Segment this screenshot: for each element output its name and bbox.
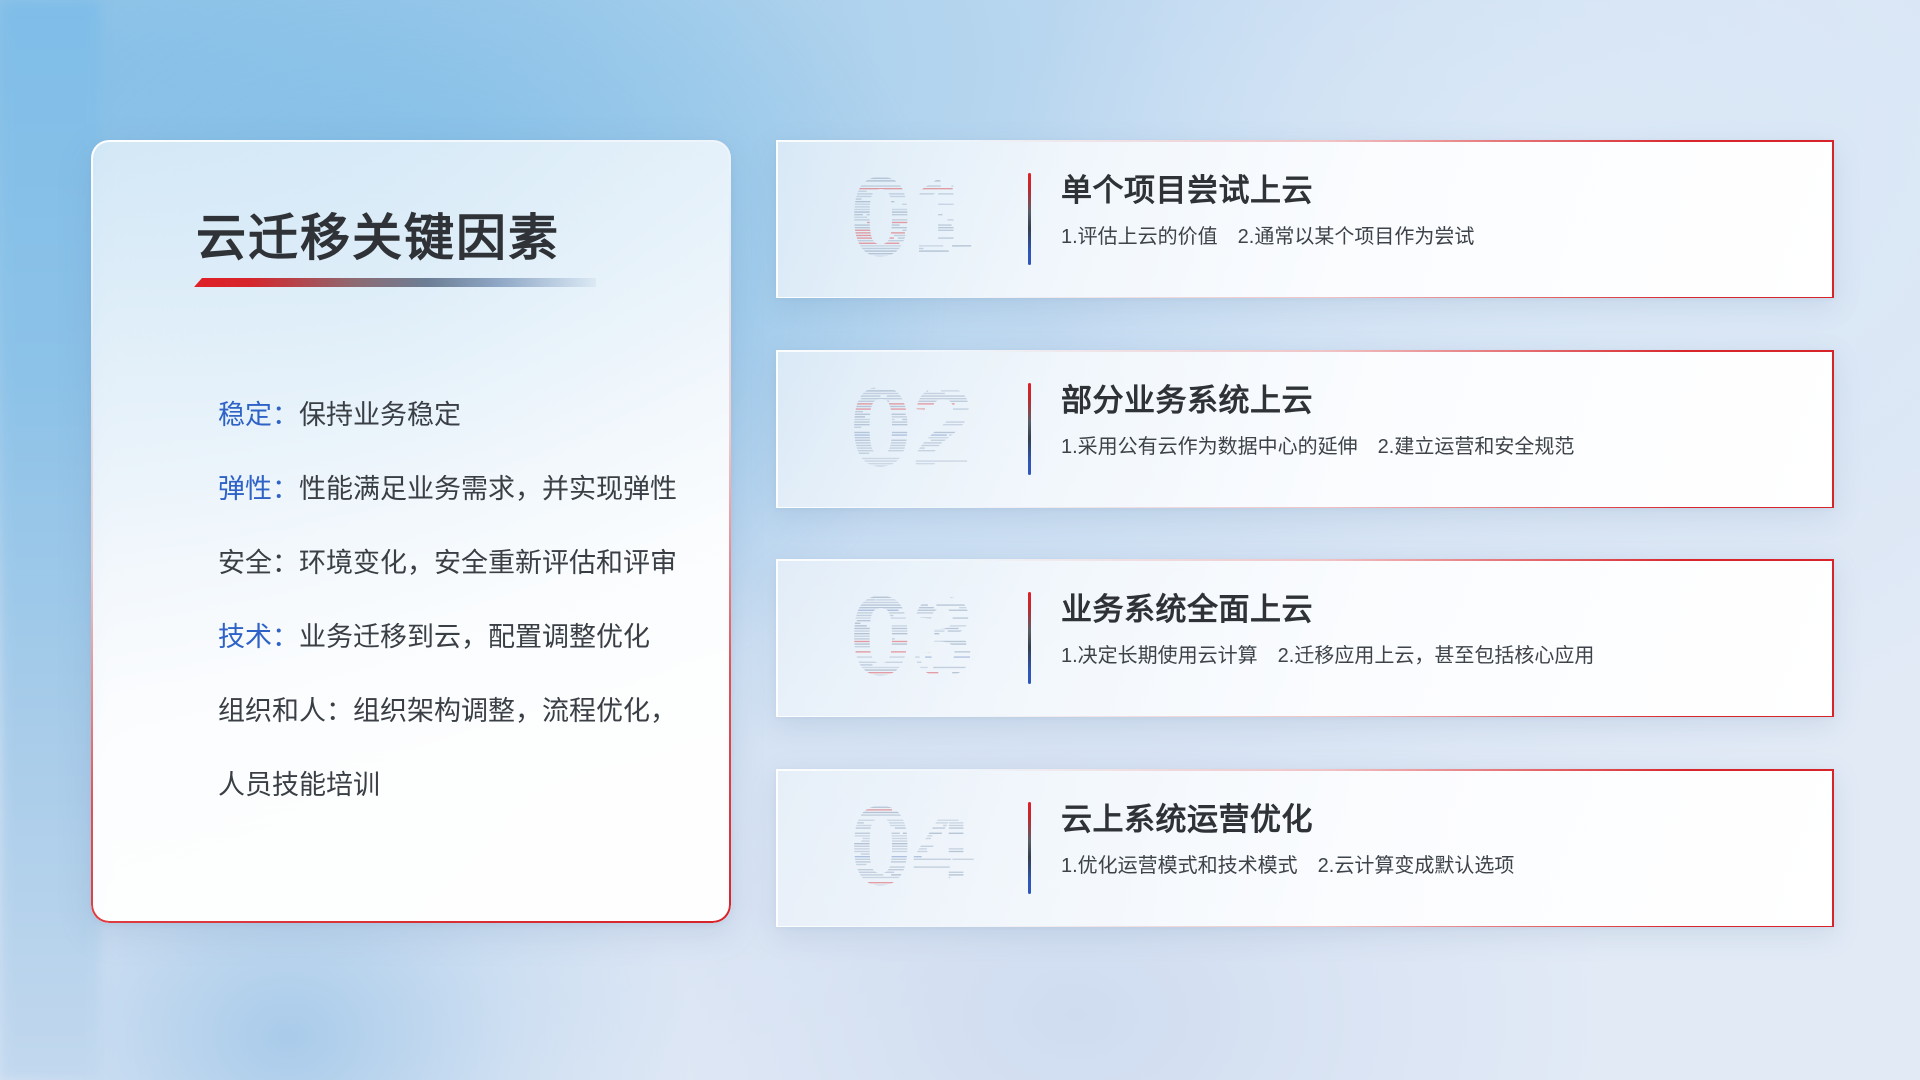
step-number-glyph: 03 — [812, 577, 1012, 699]
key-factor-label: 安全： — [218, 548, 299, 578]
key-factor-item: 技术：业务迁移到云，配置调整优化 — [218, 600, 685, 674]
key-factor-text: 人员技能培训 — [218, 770, 380, 800]
key-factor-text: 保持业务稳定 — [299, 400, 461, 430]
key-factor-label: 技术： — [218, 622, 299, 652]
step-number-glyph: 04 — [812, 787, 1012, 909]
migration-step-card[interactable]: 03业务系统全面上云1.决定长期使用云计算 2.迁移应用上云，甚至包括核心应用 — [776, 559, 1834, 717]
key-factor-item: 弹性：性能满足业务需求，并实现弹性 — [218, 452, 685, 526]
card-accent-bar — [1832, 140, 1834, 298]
step-number-glyph: 01 — [812, 158, 1012, 280]
key-factor-text: 业务迁移到云，配置调整优化 — [299, 622, 650, 652]
key-factor-list: 稳定：保持业务稳定弹性：性能满足业务需求，并实现弹性安全：环境变化，安全重新评估… — [218, 378, 685, 822]
key-factors-panel: 云迁移关键因素 稳定：保持业务稳定弹性：性能满足业务需求，并实现弹性安全：环境变… — [91, 140, 731, 923]
card-accent-bar — [1832, 769, 1834, 927]
key-factor-label: 稳定： — [218, 400, 299, 430]
card-accent-bar — [1832, 559, 1834, 717]
key-factor-label: 弹性： — [218, 474, 299, 504]
step-divider-bar — [1028, 173, 1031, 265]
step-description: 1.采用公有云作为数据中心的延伸 2.建立运营和安全规范 — [1061, 430, 1574, 459]
key-factor-item: 稳定：保持业务稳定 — [218, 378, 685, 452]
key-factor-item: 人员技能培训 — [218, 748, 685, 822]
step-divider-bar — [1028, 383, 1031, 475]
key-factor-item: 组织和人：组织架构调整，流程优化， — [218, 674, 685, 748]
step-description: 1.决定长期使用云计算 2.迁移应用上云，甚至包括核心应用 — [1061, 639, 1594, 668]
key-factor-label: 组织和人： — [218, 696, 353, 726]
step-description: 1.优化运营模式和技术模式 2.云计算变成默认选项 — [1061, 849, 1514, 878]
step-divider-bar — [1028, 592, 1031, 684]
migration-step-card[interactable]: 04云上系统运营优化1.优化运营模式和技术模式 2.云计算变成默认选项 — [776, 769, 1834, 927]
migration-step-card[interactable]: 01单个项目尝试上云1.评估上云的价值 2.通常以某个项目作为尝试 — [776, 140, 1834, 298]
page-title: 云迁移关键因素 — [196, 198, 560, 270]
key-factor-text: 环境变化，安全重新评估和评审 — [299, 548, 677, 578]
migration-step-card[interactable]: 02部分业务系统上云1.采用公有云作为数据中心的延伸 2.建立运营和安全规范 — [776, 350, 1834, 508]
step-title: 部分业务系统上云 — [1061, 375, 1313, 420]
step-divider-bar — [1028, 802, 1031, 894]
step-title: 业务系统全面上云 — [1061, 584, 1313, 629]
key-factor-text: 性能满足业务需求，并实现弹性 — [299, 474, 677, 504]
key-factor-text: 组织架构调整，流程优化， — [353, 696, 677, 726]
step-title: 单个项目尝试上云 — [1061, 165, 1313, 210]
key-factor-item: 安全：环境变化，安全重新评估和评审 — [218, 526, 685, 600]
title-underline-rule — [194, 278, 596, 287]
step-number-glyph: 02 — [812, 368, 1012, 490]
card-accent-bar — [1832, 350, 1834, 508]
slide-stage: 云迁移关键因素 稳定：保持业务稳定弹性：性能满足业务需求，并实现弹性安全：环境变… — [0, 0, 1920, 1080]
step-title: 云上系统运营优化 — [1061, 794, 1313, 839]
step-description: 1.评估上云的价值 2.通常以某个项目作为尝试 — [1061, 220, 1474, 249]
